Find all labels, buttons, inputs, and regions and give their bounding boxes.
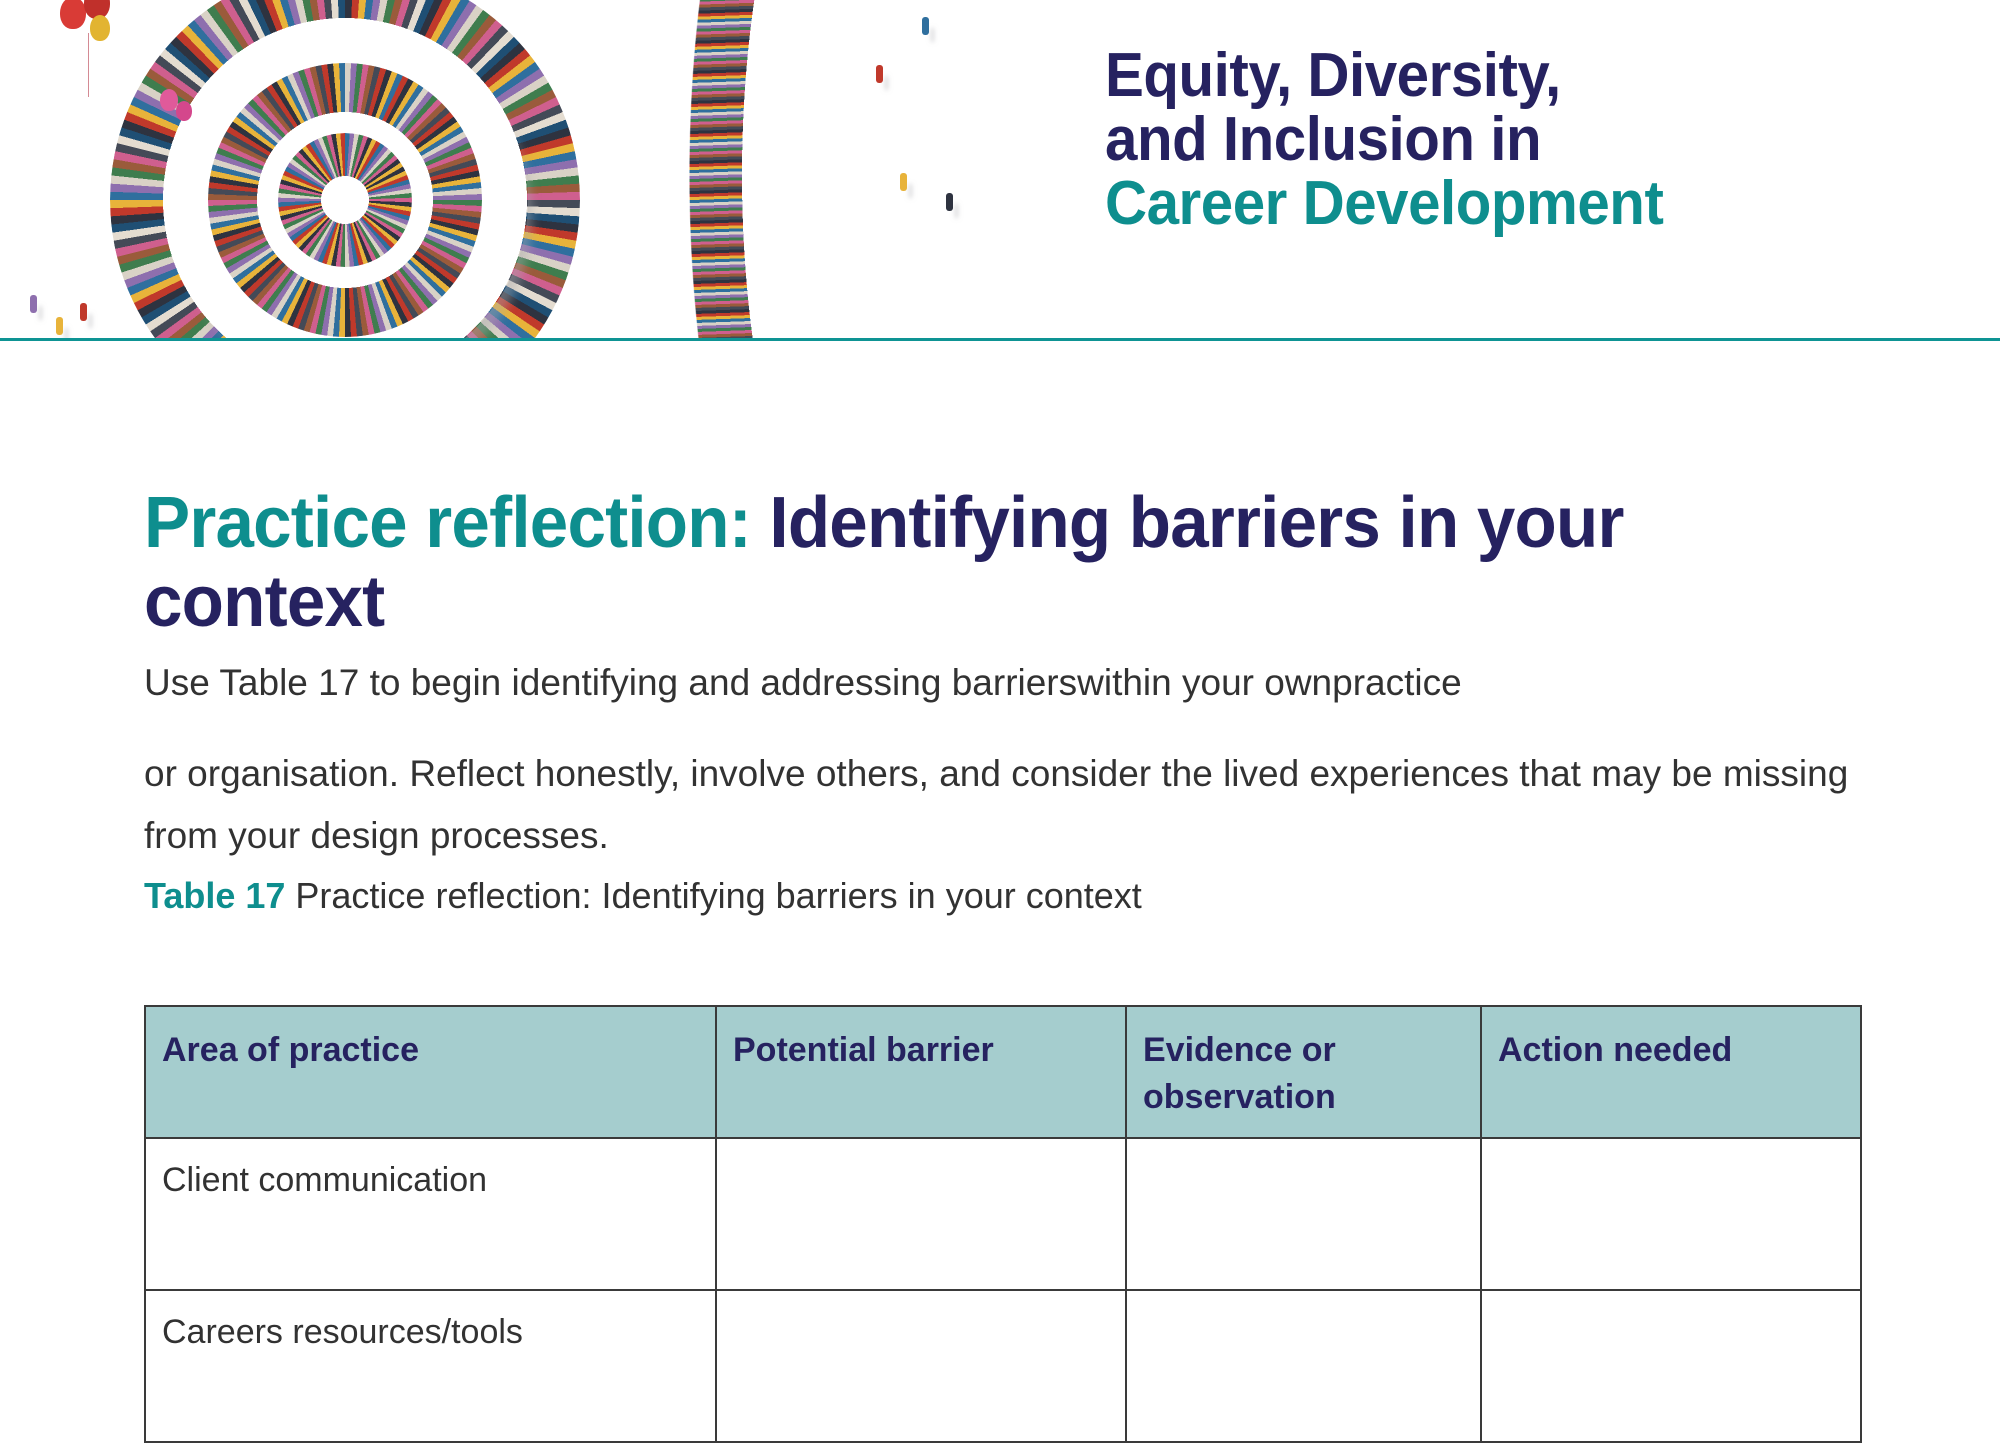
document-page: Equity, Diversity, and Inclusion in Care… [0,0,2000,1410]
table-header-row: Area of practice Potential barrier Evide… [145,1006,1861,1138]
table-body: Client communication Careers resources/t… [145,1138,1861,1442]
crowd-spiral-illustration [0,0,1090,341]
column-header-evidence-or-observation: Evidence or observation [1126,1006,1481,1138]
cell-evidence-or-observation[interactable] [1126,1290,1481,1442]
cell-action-needed[interactable] [1481,1138,1861,1290]
stray-person [30,295,37,313]
intro-paragraph-2: or organisation. Reflect honestly, invol… [144,743,1889,867]
stray-person [900,173,907,191]
table-head: Area of practice Potential barrier Evide… [145,1006,1861,1138]
cell-area-of-practice: Client communication [145,1138,716,1290]
banner-title-line-2: and Inclusion in [1105,108,1932,172]
spiral-tail-arm [572,0,1042,341]
cell-potential-barrier[interactable] [716,1290,1126,1442]
balloon-gold [90,15,110,41]
cell-area-of-practice: Careers resources/tools [145,1290,716,1442]
stray-person [876,65,883,83]
page-content: Practice reflection: Identifying barrier… [0,341,2000,1410]
spiral-ring-inner [278,133,412,267]
page-banner: Equity, Diversity, and Inclusion in Care… [0,0,2000,341]
balloon-string [88,33,89,97]
balloon-pink [176,101,192,121]
banner-title: Equity, Diversity, and Inclusion in Care… [1105,44,1932,236]
banner-title-highlight: Career Development [1105,172,1932,236]
stray-person [946,193,953,211]
balloon-red [60,0,86,29]
column-header-area-of-practice: Area of practice [145,1006,716,1138]
table-caption-label: Table 17 [144,875,285,916]
intro-paragraph-1: Use Table 17 to begin identifying and ad… [144,652,1889,714]
column-header-potential-barrier: Potential barrier [716,1006,1126,1138]
page-title-lead: Practice reflection: [144,483,751,563]
cell-evidence-or-observation[interactable] [1126,1138,1481,1290]
page-title: Practice reflection: Identifying barrier… [144,484,1814,642]
table-caption-text: Practice reflection: Identifying barrier… [285,875,1141,916]
cell-potential-barrier[interactable] [716,1138,1126,1290]
spiral-graphic [0,0,970,341]
stray-person [56,317,63,335]
table-row: Careers resources/tools [145,1290,1861,1442]
cell-action-needed[interactable] [1481,1290,1861,1442]
banner-title-line-1: Equity, Diversity, [1105,44,1932,108]
table-row: Client communication [145,1138,1861,1290]
table-caption: Table 17 Practice reflection: Identifyin… [144,874,1884,918]
stray-person [80,303,87,321]
stray-person [922,17,929,35]
column-header-action-needed: Action needed [1481,1006,1861,1138]
practice-reflection-table: Area of practice Potential barrier Evide… [144,1005,1862,1443]
